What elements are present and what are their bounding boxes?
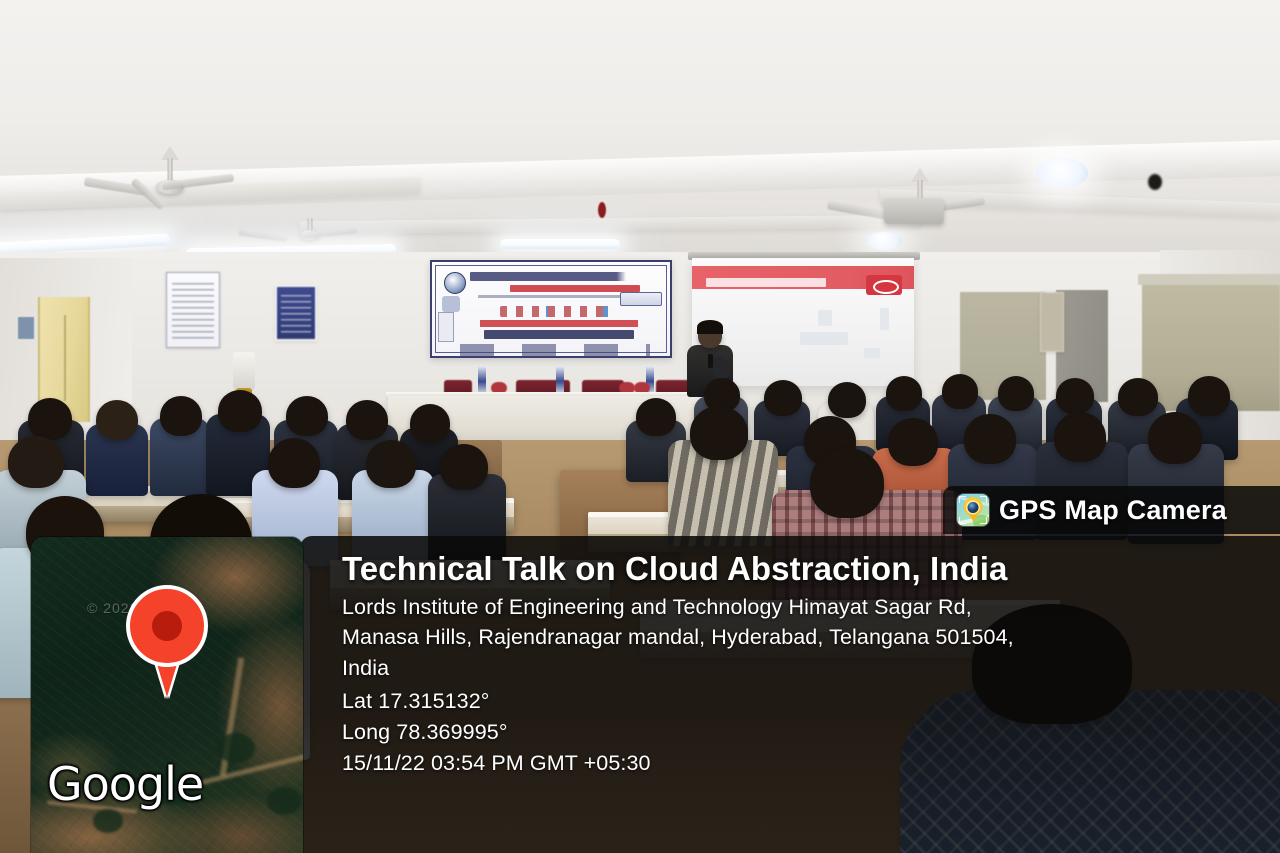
audience-member [690,406,748,460]
wall-notice [275,285,317,341]
audience-member [888,418,938,466]
slide-header-text [706,278,826,287]
map-vegetation [93,809,123,833]
wall-notice [1040,292,1064,352]
audience-member [1056,378,1094,414]
location-title: Technical Talk on Cloud Abstraction, Ind… [342,550,1260,589]
audience-member [346,400,388,440]
audience-member [218,390,262,432]
slide-logo [866,275,902,295]
audience-member [96,400,138,440]
address-line-3: India [342,653,1260,684]
ceiling-fan [110,146,230,216]
water-bottle [556,366,564,394]
audience-member [828,382,866,418]
water-bottle [478,366,486,394]
audience-member [998,376,1034,411]
wall-notice [166,272,220,348]
audience-member [1118,378,1158,416]
ieee-logo [620,292,662,306]
institute-logo [444,272,466,294]
map-location-pin [126,585,208,697]
timestamp-value: 15/11/22 03:54 PM GMT +05:30 [342,748,1260,779]
map-vegetation [217,733,255,763]
audience-member [160,396,202,436]
audience-member [964,414,1016,464]
map-vegetation [267,787,301,815]
audience-member [886,376,922,411]
audience-member [268,438,320,488]
latitude-value: Lat 17.315132° [342,686,1260,717]
longitude-value: Long 78.369995° [342,717,1260,748]
audience-member [764,380,802,416]
tube-light [500,239,620,249]
ceiling-fixture [1148,174,1162,190]
audience-member [440,444,488,490]
location-info-panel: Technical Talk on Cloud Abstraction, Ind… [300,536,1280,853]
address-line-1: Lords Institute of Engineering and Techn… [342,592,1260,623]
audience-member [1148,412,1202,464]
google-watermark: Google [47,757,203,811]
audience-member [8,436,64,488]
audience-member [366,440,416,488]
address-line-2: Manasa Hills, Rajendranagar mandal, Hyde… [342,622,1260,653]
slide-header-bar [692,266,914,289]
gps-map-camera-photo: GPS Map Camera Technical Talk on Cloud A… [0,0,1280,853]
projector [884,198,944,224]
event-banner [430,260,672,358]
audience-member [942,374,978,409]
ceiling-light [1036,158,1088,188]
map-thumbnail[interactable]: © 2022 Google [31,537,303,853]
gps-map-camera-watermark: GPS Map Camera [943,486,1280,534]
audience-member [810,448,884,518]
door-sign [17,316,35,340]
microphone [708,354,713,368]
gps-map-camera-icon [957,494,989,526]
audience-member [1188,376,1230,416]
audience-member [1054,412,1106,462]
ceiling-fixture [598,202,606,218]
institute-logo-secondary [442,296,460,312]
audience-member [410,404,450,443]
audience-member [28,398,72,440]
ceiling-light [866,232,902,250]
audience-member [286,396,328,436]
audience-member [636,398,676,436]
gps-map-camera-label: GPS Map Camera [999,495,1227,526]
